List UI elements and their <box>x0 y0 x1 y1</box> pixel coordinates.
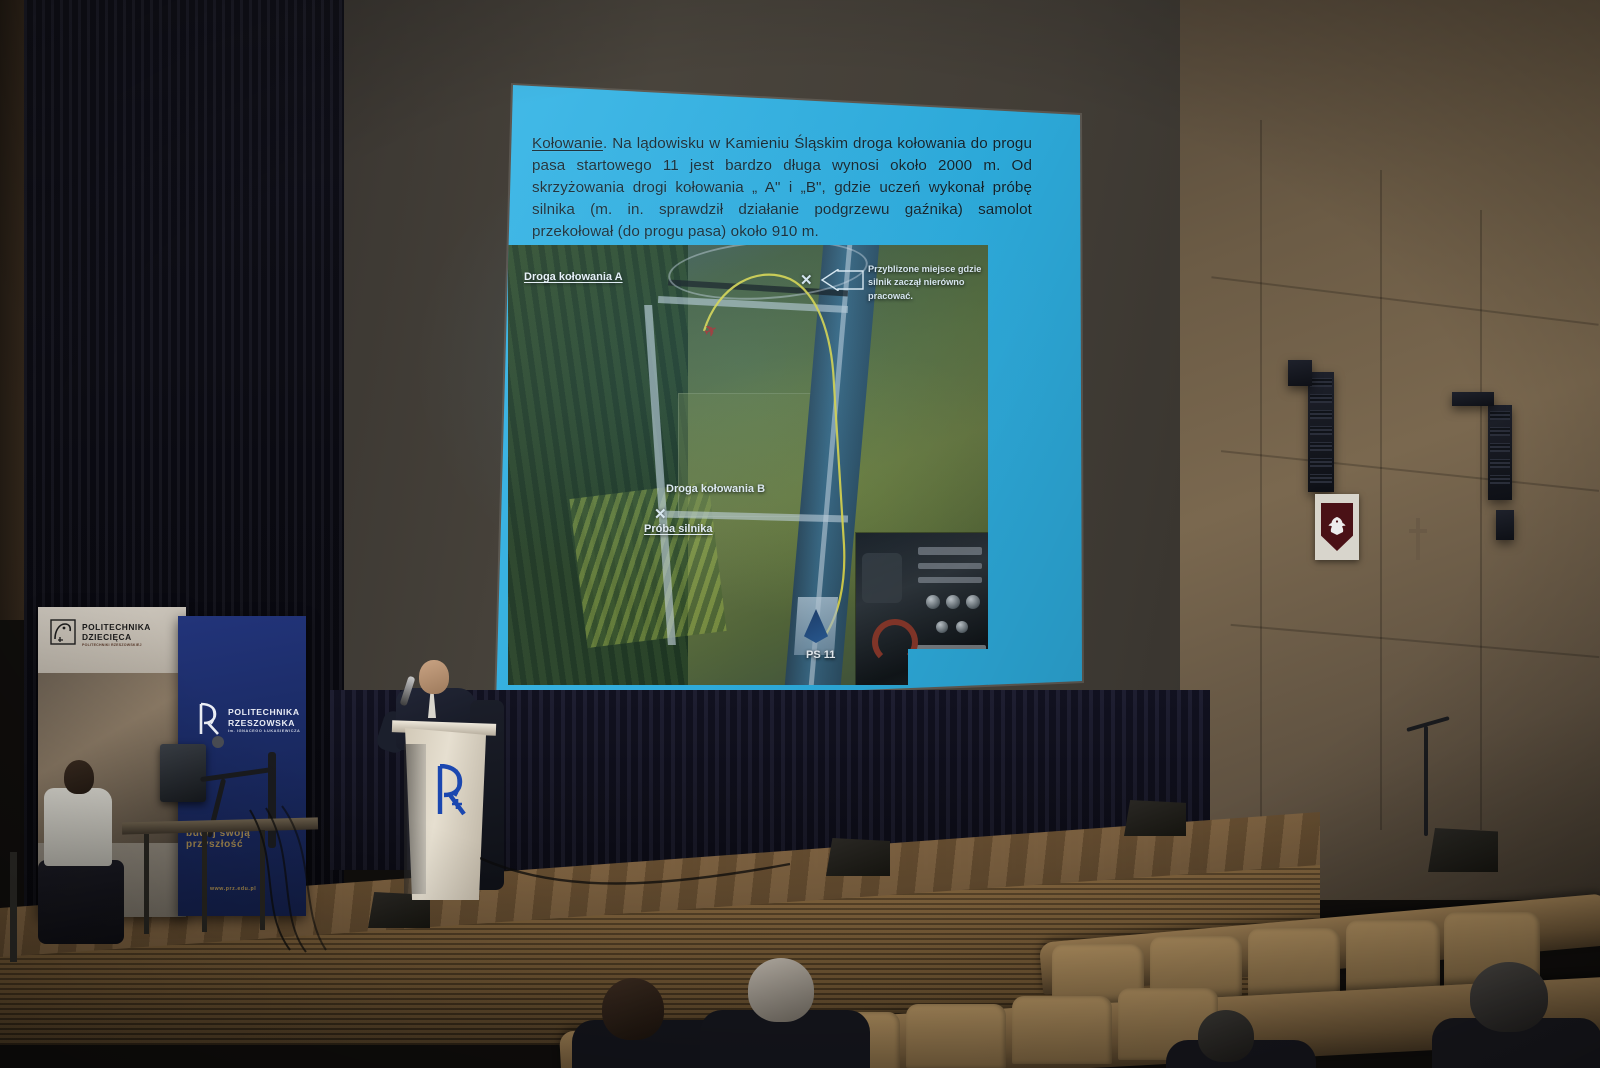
slide-text-block: Kołowanie. Na lądowisku w Kamieniu Śląsk… <box>532 133 1032 243</box>
wall-bracket <box>1496 510 1514 540</box>
stage-monitor-speaker <box>1124 800 1186 836</box>
right-wall <box>1180 0 1600 900</box>
audience-member-head <box>748 958 814 1022</box>
engine-test-x-marker: ✕ <box>654 505 667 523</box>
audience-seat <box>906 1004 1006 1068</box>
stage-monitor-speaker <box>1428 828 1498 872</box>
banner-blue-title-1: POLITECHNIKA <box>228 707 300 717</box>
operator-head <box>64 760 94 794</box>
polish-eagle-emblem <box>1315 494 1359 560</box>
wall-seam <box>1380 170 1382 830</box>
slide-body: . Na lądowisku w Kamieniu Śląskim droga … <box>532 135 1032 240</box>
line-array-speaker <box>1488 405 1512 500</box>
wall-bracket <box>1452 392 1494 406</box>
eagle-shield-icon <box>1321 503 1353 551</box>
presentation-slide: Kołowanie. Na lądowisku w Kamieniu Śląsk… <box>470 55 1110 715</box>
camera-ball-head <box>212 736 224 748</box>
speaker-mount-bracket <box>1288 360 1312 386</box>
projection-screen: Kołowanie. Na lądowisku w Kamieniu Śląsk… <box>470 55 1110 715</box>
banner-blue-title-2: RZESZOWSKA <box>228 718 295 728</box>
politechnika-dziecieca-logo-icon <box>50 619 76 645</box>
wall-seam <box>1260 120 1262 820</box>
line-array-speaker <box>1308 372 1334 492</box>
slide-heading: Kołowanie <box>532 135 603 152</box>
mic-stand-pole <box>1424 726 1428 836</box>
engine-fault-callout: Przyblizone miejsce gdzie silnik zaczął … <box>868 263 988 303</box>
annotation-engine-test: Próba silnika <box>644 523 712 535</box>
operator-chair <box>10 852 96 962</box>
annotation-taxiway-a: Droga kołowania A <box>524 271 623 283</box>
prz-banner-logo-icon <box>196 702 222 736</box>
stage-floor-cable <box>480 844 800 904</box>
slide-background-fill <box>908 649 988 685</box>
speaker-head <box>419 660 449 694</box>
banner-blue-subtitle: im. IGNACEGO ŁUKASIEWICZA <box>228 729 300 733</box>
annotation-runway-threshold: PS 11 <box>806 649 835 661</box>
banner-white-subtitle: POLITECHNIKI RZESZOWSKIEJ <box>82 643 142 647</box>
aerial-photograph: ✈ ✕ ✕ Przyblizone miejsce gdzie silnik z… <box>508 245 988 685</box>
prz-logo-icon <box>434 764 470 816</box>
audience-member-head <box>1470 962 1548 1032</box>
auditorium-scene: Kołowanie. Na lądowisku w Kamieniu Śląsk… <box>0 0 1600 1068</box>
stage-monitor-speaker <box>826 838 890 876</box>
banner-white-title-2: DZIECIĘCA <box>82 632 132 642</box>
banner-white-title-1: POLITECHNIKA <box>82 622 151 632</box>
annotation-taxiway-b: Droga kołowania B <box>666 483 765 495</box>
audience-seat <box>1012 996 1112 1064</box>
engine-fault-x-marker: ✕ <box>800 271 813 289</box>
wall-crucifix <box>1409 518 1427 560</box>
audience-member-head <box>1198 1010 1254 1062</box>
audience-member-head <box>602 978 664 1040</box>
callout-arrow-icon <box>820 269 864 291</box>
av-monitor-screen <box>160 744 206 802</box>
cable-runs <box>240 800 420 960</box>
wall-seam <box>1480 210 1482 830</box>
